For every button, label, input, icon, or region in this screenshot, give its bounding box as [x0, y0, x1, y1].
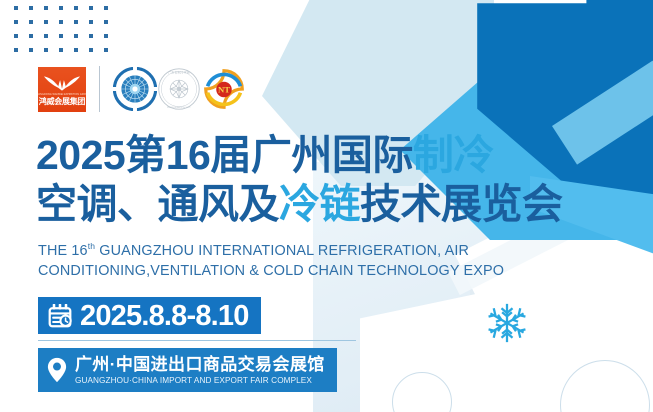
title-line1-accent: 制冷	[413, 132, 494, 178]
grid-dot	[104, 48, 108, 52]
grid-dot	[59, 6, 63, 10]
association-seal-logo[interactable]: 广东省制冷学会 REFRIGERATION SOC.	[157, 67, 201, 111]
gear-emblem-logo[interactable]	[113, 67, 157, 111]
page-title-cn: 2025第16届广州国际制冷 空调、通风及冷链技术展览会	[36, 130, 563, 229]
grid-dot	[89, 20, 93, 24]
nt-logo-label: NT	[218, 85, 230, 95]
organizer-logo-row: GUANGDONG WANWEI EXHIBITION GROUP 鸿威会展集团	[38, 61, 247, 117]
grid-dot	[104, 20, 108, 24]
grid-dot	[44, 34, 48, 38]
venue-text-group: 广州·中国进出口商品交易会展馆 GUANGZHOU·CHINA IMPORT A…	[75, 355, 325, 386]
grid-dot	[89, 34, 93, 38]
grid-dot	[44, 6, 48, 10]
snowflake-icon	[487, 303, 527, 343]
title-en-line1: THE 16th GUANGZHOU INTERNATIONAL REFRIGE…	[38, 236, 504, 261]
wanwei-exhibition-group-logo[interactable]: GUANGDONG WANWEI EXHIBITION GROUP 鸿威会展集团	[38, 67, 86, 112]
grid-dot	[44, 48, 48, 52]
grid-dot	[74, 34, 78, 38]
wanwei-logo-en: GUANGDONG WANWEI EXHIBITION GROUP	[38, 93, 86, 96]
title-line1-main: 2025第16届广州国际	[36, 132, 413, 178]
grid-dot	[14, 20, 18, 24]
grid-dot	[89, 48, 93, 52]
title-line2-main-a: 空调、通风及	[36, 181, 279, 227]
wanwei-logo-cn: 鸿威会展集团	[39, 97, 85, 106]
event-date-text: 2025.8.8-8.10	[80, 301, 249, 331]
eagle-wings-icon	[43, 74, 81, 92]
svg-text:广东省制冷学会: 广东省制冷学会	[168, 70, 190, 75]
grid-dot	[59, 48, 63, 52]
svg-text:REFRIGERATION SOC.: REFRIGERATION SOC.	[167, 106, 191, 109]
title-en-pre: THE 16	[38, 243, 88, 259]
grid-dot	[44, 20, 48, 24]
title-line2-main-b: 技术展览会	[360, 181, 563, 227]
event-date-badge: 2025.8.8-8.10	[38, 297, 261, 334]
grid-dot	[74, 20, 78, 24]
nt-circle-logo[interactable]: NT	[201, 68, 247, 110]
grid-dot	[14, 6, 18, 10]
grid-dot	[104, 34, 108, 38]
title-en-ordinal: th	[88, 241, 95, 251]
grid-dot	[59, 20, 63, 24]
date-underline-rule	[38, 340, 356, 341]
expo-banner: GUANGDONG WANWEI EXHIBITION GROUP 鸿威会展集团	[0, 0, 653, 412]
page-title-en: THE 16th GUANGZHOU INTERNATIONAL REFRIGE…	[38, 236, 504, 281]
title-en-line2: CONDITIONING,VENTILATION & COLD CHAIN TE…	[38, 261, 504, 281]
grid-dot	[104, 6, 108, 10]
grid-dot	[14, 34, 18, 38]
grid-dot	[59, 34, 63, 38]
grid-dot	[14, 48, 18, 52]
venue-name-cn: 广州·中国进出口商品交易会展馆	[75, 355, 325, 374]
title-en-post: GUANGZHOU INTERNATIONAL REFRIGERATION, A…	[95, 243, 469, 259]
grid-dot	[74, 6, 78, 10]
grid-dot	[29, 34, 33, 38]
calendar-clock-icon	[48, 304, 72, 328]
grid-dot	[29, 20, 33, 24]
grid-dot	[89, 6, 93, 10]
map-pin-icon	[46, 357, 68, 383]
venue-name-en: GUANGZHOU·CHINA IMPORT AND EXPORT FAIR C…	[75, 375, 325, 386]
grid-dot	[29, 48, 33, 52]
grid-dot	[29, 6, 33, 10]
title-line2-accent: 冷链	[279, 181, 360, 227]
event-venue-badge: 广州·中国进出口商品交易会展馆 GUANGZHOU·CHINA IMPORT A…	[38, 348, 337, 392]
grid-dot	[74, 48, 78, 52]
logo-divider	[99, 66, 100, 112]
